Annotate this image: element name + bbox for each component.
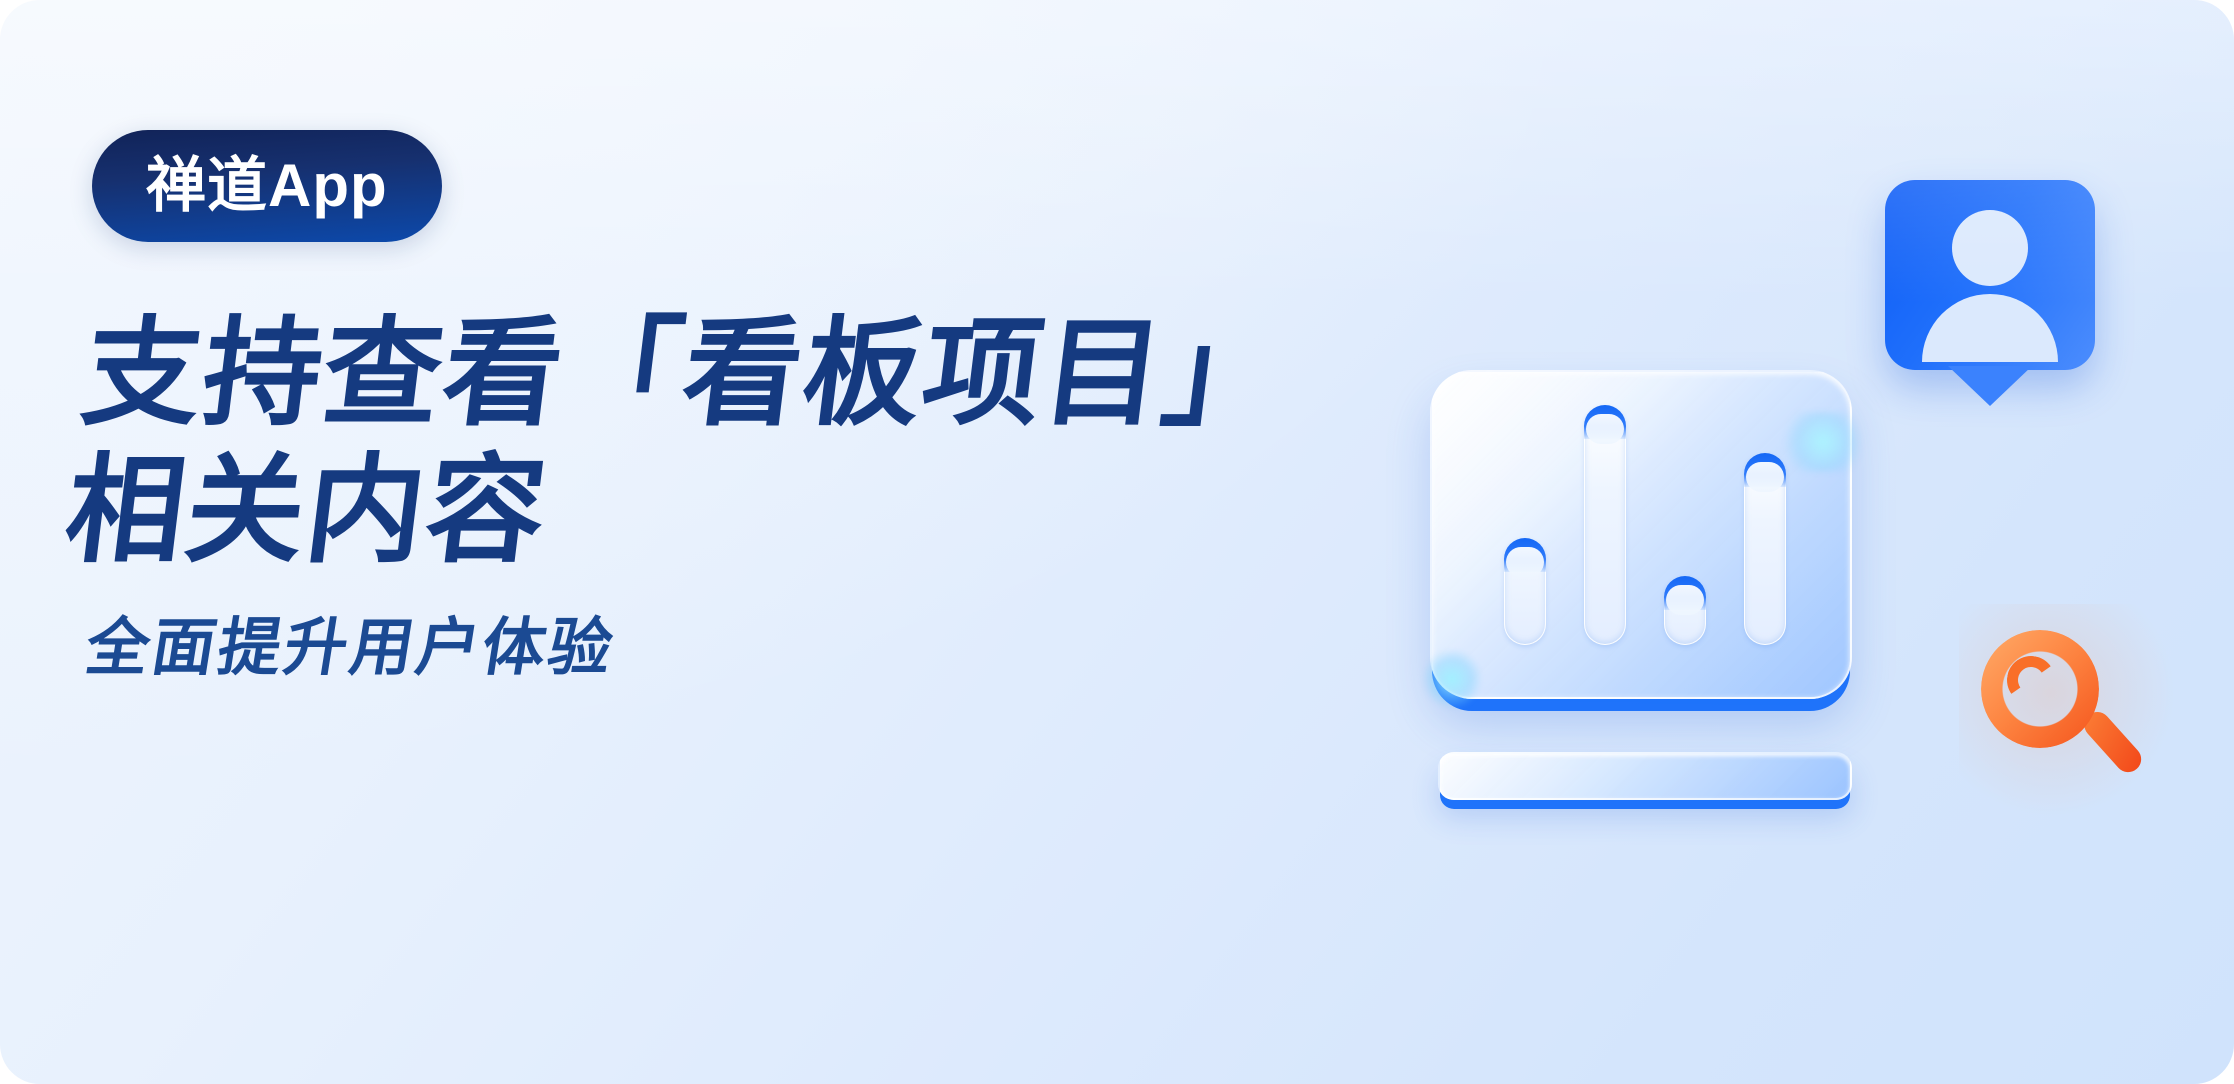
headline-line-1: 支持查看「看板项目」 (75, 306, 1292, 443)
promo-banner: 禅道App 支持查看「看板项目」 相关内容 全面提升用户体验 (0, 0, 2234, 1084)
card-glow-left (1422, 649, 1482, 709)
avatar-body-shape (1922, 294, 2058, 362)
app-badge: 禅道App (92, 130, 442, 242)
avatar-head-shape (1952, 210, 2028, 286)
illustration (1390, 180, 2210, 860)
chart-bar-1 (1504, 538, 1546, 645)
search-magnifier-icon (1975, 620, 2185, 810)
chart-bars (1432, 405, 1850, 645)
card-footer-bar-icon (1438, 752, 1852, 800)
page-title: 支持查看「看板项目」 相关内容 (58, 306, 1292, 580)
bar-chart-card-icon (1430, 370, 1852, 699)
subtitle: 全面提升用户体验 (81, 614, 1292, 683)
chart-bar-4 (1744, 453, 1786, 645)
chart-bar-2 (1584, 405, 1626, 645)
copy-block: 禅道App 支持查看「看板项目」 相关内容 全面提升用户体验 (92, 130, 1292, 683)
bubble-tail-shape (1948, 366, 2032, 406)
chart-bar-3 (1664, 576, 1706, 645)
user-avatar-bubble-icon (1885, 180, 2095, 370)
headline-line-2: 相关内容 (58, 443, 1275, 580)
